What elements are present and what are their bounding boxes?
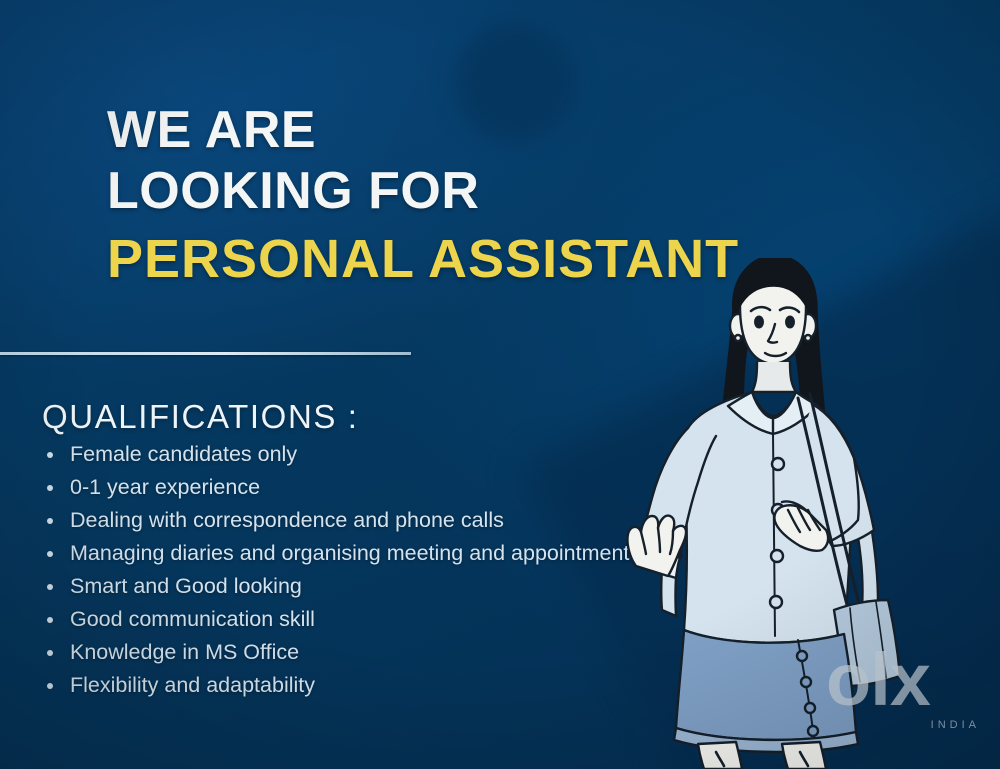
section-divider bbox=[0, 352, 411, 355]
olx-region-text: INDIA bbox=[931, 719, 980, 731]
olx-watermark: olx INDIA bbox=[826, 643, 986, 729]
olx-brand-text: olx bbox=[826, 643, 986, 717]
job-advertisement-poster: WE ARE LOOKING FOR PERSONAL ASSISTANT QU… bbox=[0, 0, 1000, 769]
headline-line-two: LOOKING FOR bbox=[107, 165, 787, 218]
headline-line-one: WE ARE bbox=[107, 104, 787, 157]
